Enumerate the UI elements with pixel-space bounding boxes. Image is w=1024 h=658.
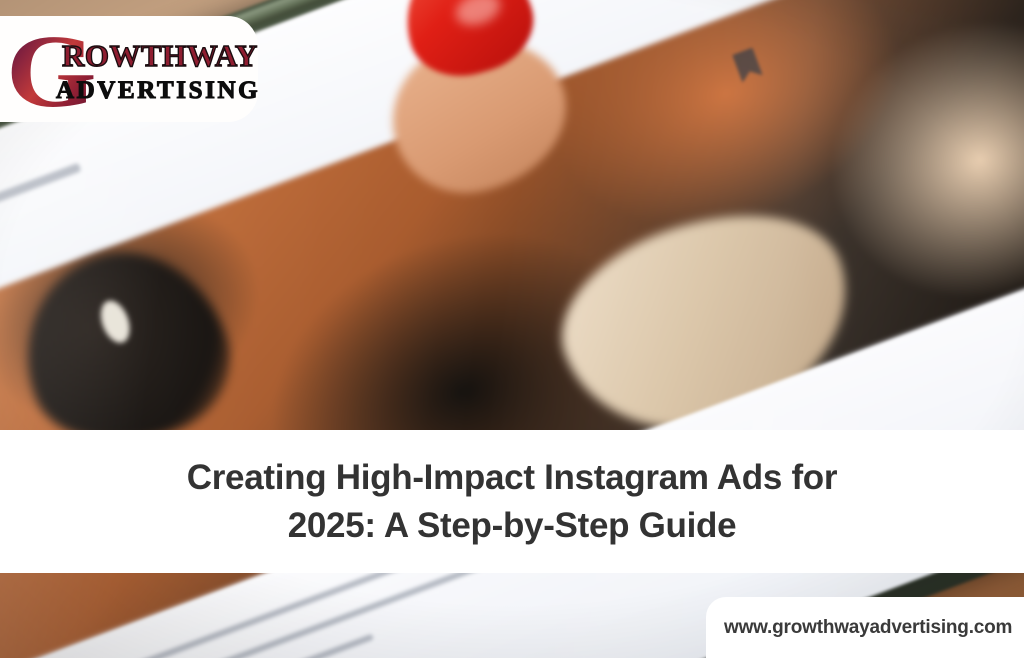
logo-word-advertising: ADVERTISING xyxy=(56,78,258,103)
website-url-text: www.growthwayadvertising.com xyxy=(706,617,1012,639)
logo-word-growthway: ROWTHWAY xyxy=(62,40,258,71)
logo-wordmark: ROWTHWAY ADVERTISING xyxy=(62,40,258,103)
page-title: Creating High-Impact Instagram Ads for 2… xyxy=(162,454,862,549)
blog-banner: G ROWTHWAY ADVERTISING Creating High-Imp… xyxy=(0,0,1024,658)
website-url-pill[interactable]: www.growthwayadvertising.com xyxy=(706,597,1024,658)
brand-logo-badge[interactable]: G ROWTHWAY ADVERTISING xyxy=(0,16,258,122)
title-band: Creating High-Impact Instagram Ads for 2… xyxy=(0,430,1024,573)
